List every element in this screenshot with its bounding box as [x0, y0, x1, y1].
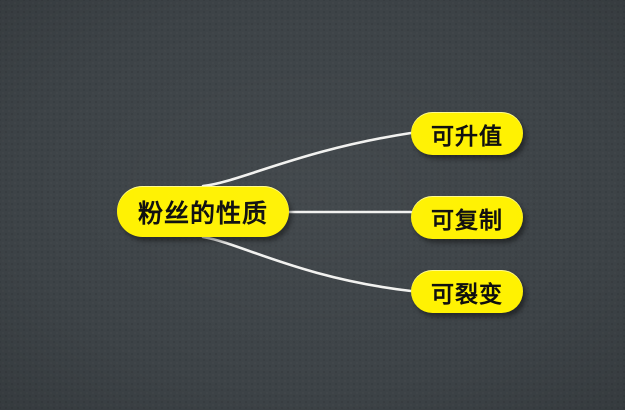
mindmap-branch-node-1[interactable]: 可复制 [411, 196, 523, 239]
mindmap-root-node[interactable]: 粉丝的性质 [117, 186, 289, 237]
mindmap-branch-label-1: 可复制 [431, 201, 503, 235]
mindmap-branch-label-0: 可升值 [431, 117, 503, 151]
connector-layer [0, 0, 625, 410]
mindmap-root-label: 粉丝的性质 [138, 194, 268, 230]
connector-root-to-branch-0 [203, 133, 411, 186]
mindmap-branch-label-2: 可裂变 [431, 275, 503, 309]
connector-root-to-branch-2 [203, 237, 411, 291]
mindmap-branch-node-2[interactable]: 可裂变 [411, 270, 523, 313]
mindmap-branch-node-0[interactable]: 可升值 [411, 112, 523, 155]
mindmap-canvas: 粉丝的性质 可升值 可复制 可裂变 [0, 0, 625, 410]
